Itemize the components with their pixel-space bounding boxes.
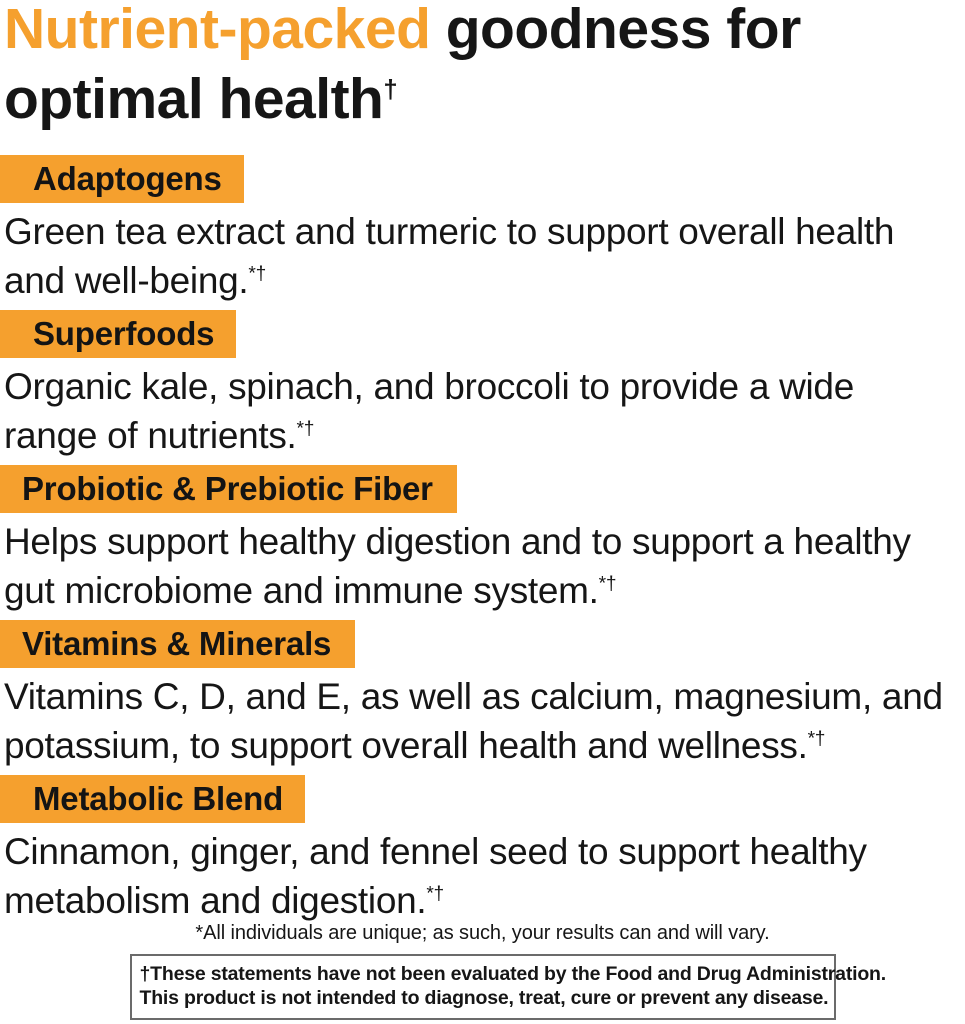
badge-row: Superfoods [0,310,965,358]
benefit-section-adaptogens: Adaptogens Green tea extract and turmeri… [0,155,965,305]
section-badge-superfoods: Superfoods [0,310,236,358]
page-title: Nutrient-packed goodness for optimal hea… [0,0,965,134]
footnote-marker: *† [599,574,617,595]
footnote-marker: *† [297,419,315,440]
badge-row: Adaptogens [0,155,965,203]
section-body-adaptogens: Green tea extract and turmeric to suppor… [0,207,965,305]
footnote-marker: *† [426,884,444,905]
footer-disclaimers: *All individuals are unique; as such, yo… [0,920,965,1024]
fda-disclaimer-line-2: This product is not intended to diagnose… [140,986,826,1010]
badge-row: Metabolic Blend [0,775,965,823]
fda-disclaimer-line-1: †These statements have not been evaluate… [140,962,826,986]
badge-row: Vitamins & Minerals [0,620,965,668]
fda-disclaimer-box: †These statements have not been evaluate… [130,954,836,1020]
dagger-symbol: † [383,76,397,104]
benefit-section-vitamins-minerals: Vitamins & Minerals Vitamins C, D, and E… [0,620,965,770]
section-body-text: Green tea extract and turmeric to suppor… [4,211,894,301]
section-body-probiotic-prebiotic-fiber: Helps support healthy digestion and to s… [0,517,965,615]
section-body-text: Organic kale, spinach, and broccoli to p… [4,366,854,456]
section-badge-adaptogens: Adaptogens [0,155,244,203]
section-badge-metabolic-blend: Metabolic Blend [0,775,305,823]
section-body-vitamins-minerals: Vitamins C, D, and E, as well as calcium… [0,672,965,770]
results-vary-note: *All individuals are unique; as such, yo… [0,920,965,946]
section-body-text: Cinnamon, ginger, and fennel seed to sup… [4,831,867,921]
section-body-metabolic-blend: Cinnamon, ginger, and fennel seed to sup… [0,827,965,925]
section-body-text: Helps support healthy digestion and to s… [4,521,911,611]
product-benefits-panel: Nutrient-packed goodness for optimal hea… [0,0,965,1024]
benefit-section-metabolic-blend: Metabolic Blend Cinnamon, ginger, and fe… [0,775,965,925]
section-badge-probiotic-prebiotic-fiber: Probiotic & Prebiotic Fiber [0,465,457,513]
page-title-accent: Nutrient-packed [4,0,430,61]
section-body-superfoods: Organic kale, spinach, and broccoli to p… [0,362,965,460]
section-body-text: Vitamins C, D, and E, as well as calcium… [4,676,943,766]
section-badge-vitamins-minerals: Vitamins & Minerals [0,620,355,668]
badge-row: Probiotic & Prebiotic Fiber [0,465,965,513]
benefit-sections: Adaptogens Green tea extract and turmeri… [0,155,965,930]
benefit-section-superfoods: Superfoods Organic kale, spinach, and br… [0,310,965,460]
footnote-marker: *† [248,264,266,285]
footnote-marker: *† [808,729,826,750]
benefit-section-probiotic-prebiotic-fiber: Probiotic & Prebiotic Fiber Helps suppor… [0,465,965,615]
